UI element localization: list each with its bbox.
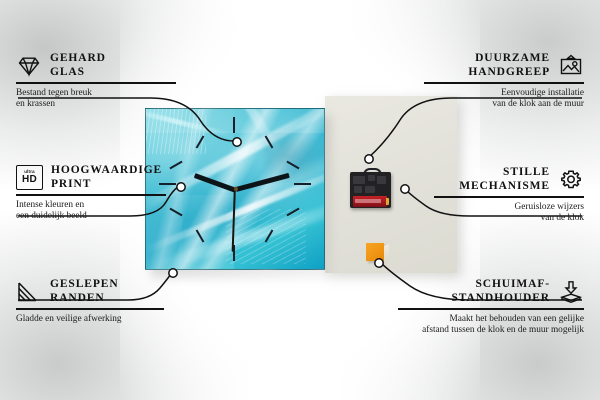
feature-title: STILLE MECHANISME	[434, 166, 550, 193]
feature-header: GESLEPEN RANDEN	[16, 278, 164, 305]
hour-tick	[294, 183, 311, 185]
feature-header: SCHUIMAF- STANDHOUDER	[398, 278, 584, 305]
hour-tick	[265, 229, 274, 242]
movement-slot	[368, 175, 375, 181]
ultra-hd-icon-large-text: HD	[22, 175, 37, 185]
feature-desc-line2: van de klok	[434, 213, 584, 225]
feature-geslepen-randen: GESLEPEN RANDEN Gladde en veilige afwerk…	[16, 278, 164, 325]
feature-description: Maakt het behouden van een gelijke afsta…	[398, 314, 584, 337]
feature-title-line2: MECHANISME	[434, 180, 550, 194]
feature-title: GEHARD GLAS	[50, 52, 106, 79]
feature-gehard-glas: GEHARD GLAS Bestand tegen breuk en krass…	[16, 52, 176, 111]
feature-title-line1: STILLE	[434, 166, 550, 180]
feature-header: GEHARD GLAS	[16, 52, 176, 79]
battery-label	[355, 199, 381, 203]
movement-slot	[353, 176, 365, 184]
feature-stille-mechanisme: STILLE MECHANISME Geruisloze wijzers van…	[434, 166, 584, 225]
feature-description: Eenvoudige installatie van de klok aan d…	[424, 88, 584, 111]
movement-slot	[354, 186, 362, 193]
gear-icon	[558, 168, 584, 192]
feature-divider	[434, 196, 584, 198]
feature-desc-line2: van de klok aan de muur	[424, 99, 584, 111]
clock-second-hand	[232, 190, 236, 252]
hour-tick	[196, 135, 205, 148]
feature-desc-line1: Eenvoudige installatie	[424, 88, 584, 100]
feature-description: Geruisloze wijzers van de klok	[434, 202, 584, 225]
feature-title-line2: STANDHOUDER	[398, 292, 550, 306]
movement-body	[350, 172, 391, 208]
product-photo-clock	[145, 108, 325, 273]
feature-desc-line1: Gladde en veilige afwerking	[16, 314, 164, 326]
hour-tick	[196, 229, 205, 242]
feature-title: GESLEPEN RANDEN	[50, 278, 119, 305]
foam-spacer-side	[384, 244, 389, 264]
feature-duurzame-handgreep: DUURZAME HANDGREEP Eenvoudige installati…	[424, 52, 584, 111]
diamond-icon	[16, 54, 42, 78]
feature-title: HOOGWAARDIGE PRINT	[51, 164, 162, 191]
feature-desc-line1: Bestand tegen breuk	[16, 88, 176, 100]
hour-tick	[286, 161, 299, 170]
movement-slot	[377, 176, 386, 184]
clock-minute-hand	[235, 173, 289, 192]
hour-tick	[233, 117, 235, 133]
feature-desc-line2: en krassen	[16, 99, 176, 111]
feature-title-line2: PRINT	[51, 178, 162, 192]
movement-slot	[365, 186, 375, 193]
feature-desc-line1: Geruisloze wijzers	[434, 202, 584, 214]
feature-schuimaf-standhouder: SCHUIMAF- STANDHOUDER Maakt het behouden…	[398, 278, 584, 337]
clock-movement	[350, 168, 391, 208]
clock-face	[145, 108, 325, 270]
ultra-hd-icon: ultra HD	[16, 165, 43, 190]
feature-desc-line2: een duidelijk beeld	[16, 211, 166, 223]
infographic-canvas: GEHARD GLAS Bestand tegen breuk en krass…	[0, 0, 600, 400]
feature-title-line2: RANDEN	[50, 292, 119, 306]
feature-desc-line1: Intense kleuren en	[16, 200, 166, 212]
feature-title-line1: DUURZAME	[424, 52, 550, 66]
ground-edges-icon	[16, 280, 42, 304]
feature-title-line2: GLAS	[50, 66, 106, 80]
hour-tick	[265, 135, 274, 148]
feature-description: Bestand tegen breuk en krassen	[16, 88, 176, 111]
feature-divider	[16, 82, 176, 84]
hour-tick	[169, 208, 182, 217]
clock-dial	[146, 109, 324, 269]
feature-title-line1: SCHUIMAF-	[398, 278, 550, 292]
feature-title-line1: GEHARD	[50, 52, 106, 66]
feature-header: DUURZAME HANDGREEP	[424, 52, 584, 79]
feature-divider	[424, 82, 584, 84]
clock-hour-hand	[194, 173, 237, 193]
feature-hoogwaardige-print: ultra HD HOOGWAARDIGE PRINT Intense kleu…	[16, 164, 166, 223]
feature-title-line2: HANDGREEP	[424, 66, 550, 80]
feature-header: ultra HD HOOGWAARDIGE PRINT	[16, 164, 166, 191]
feature-description: Intense kleuren en een duidelijk beeld	[16, 200, 166, 223]
foam-spacer-pad	[366, 243, 384, 261]
press-down-pad-icon	[558, 280, 584, 304]
feature-divider	[16, 308, 164, 310]
feature-description: Gladde en veilige afwerking	[16, 314, 164, 326]
picture-frame-hanger-icon	[558, 54, 584, 78]
feature-title: DUURZAME HANDGREEP	[424, 52, 550, 79]
hour-tick	[286, 208, 299, 217]
feature-title-line1: HOOGWAARDIGE	[51, 164, 162, 178]
feature-desc-line2: afstand tussen de klok en de muur mogeli…	[398, 325, 584, 337]
battery	[353, 196, 387, 207]
feature-divider	[398, 308, 584, 310]
feature-title-line1: GESLEPEN	[50, 278, 119, 292]
feature-divider	[16, 194, 166, 196]
feature-title: SCHUIMAF- STANDHOUDER	[398, 278, 550, 305]
feature-desc-line1: Maakt het behouden van een gelijke	[398, 314, 584, 326]
clock-center-pin	[234, 187, 238, 191]
hour-tick	[169, 161, 182, 170]
feature-header: STILLE MECHANISME	[434, 166, 584, 193]
battery-terminal	[386, 198, 389, 205]
